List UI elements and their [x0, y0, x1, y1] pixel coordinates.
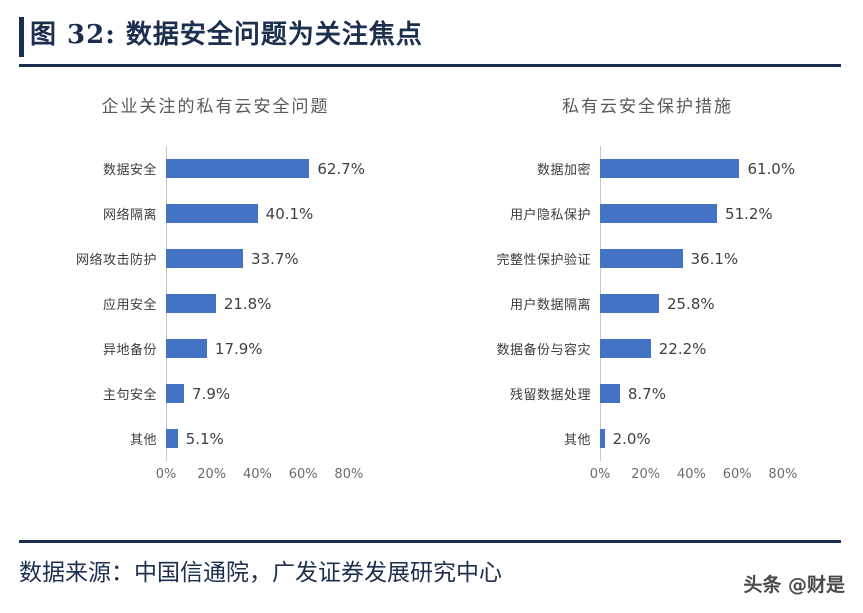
bar — [600, 249, 683, 268]
bar-track: 33.7% — [166, 236, 420, 281]
bar-value-label: 33.7% — [251, 250, 299, 268]
chart-right-title: 私有云安全保护措施 — [432, 92, 863, 117]
bar-category-label: 数据安全 — [103, 159, 166, 178]
x-axis-tick-label: 60% — [723, 467, 752, 482]
bar-track: 2.0% — [600, 416, 854, 461]
bar-value-label: 8.7% — [628, 385, 666, 403]
bar-row: 数据加密61.0% — [464, 146, 854, 191]
bar-row: 网络隔离40.1% — [30, 191, 420, 236]
x-axis-tick-label: 0% — [590, 467, 611, 482]
x-axis-tick-label: 20% — [631, 467, 660, 482]
bar — [600, 204, 717, 223]
bar-value-label: 17.9% — [215, 340, 263, 358]
bar-category-label: 其他 — [130, 429, 166, 448]
bar-value-label: 2.0% — [613, 430, 651, 448]
bar-category-label: 数据加密 — [537, 159, 600, 178]
bar-category-label: 残留数据处理 — [510, 384, 600, 403]
bar-row: 残留数据处理8.7% — [464, 371, 854, 416]
x-axis-tick-label: 80% — [768, 467, 797, 482]
bar — [600, 339, 651, 358]
bar-track: 51.2% — [600, 191, 854, 236]
chart-left-plot: 数据安全62.7%网络隔离40.1%网络攻击防护33.7%应用安全21.8%异地… — [30, 146, 420, 461]
bar-row: 异地备份17.9% — [30, 326, 420, 371]
bar-track: 21.8% — [166, 281, 420, 326]
bar-value-label: 25.8% — [667, 295, 715, 313]
bar-row: 网络攻击防护33.7% — [30, 236, 420, 281]
bar-row: 数据备份与容灾22.2% — [464, 326, 854, 371]
charts-area: 企业关注的私有云安全问题 数据安全62.7%网络隔离40.1%网络攻击防护33.… — [0, 80, 863, 530]
bar-category-label: 主句安全 — [103, 384, 166, 403]
bar-category-label: 数据备份与容灾 — [496, 339, 600, 358]
bar-row: 完整性保护验证36.1% — [464, 236, 854, 281]
bar-value-label: 62.7% — [317, 160, 365, 178]
bar-row: 数据安全62.7% — [30, 146, 420, 191]
chart-left-xaxis: 0%20%40%60%80% — [30, 461, 420, 489]
bar — [600, 294, 659, 313]
bar-value-label: 7.9% — [192, 385, 230, 403]
chart-left-rows: 数据安全62.7%网络隔离40.1%网络攻击防护33.7%应用安全21.8%异地… — [30, 146, 420, 461]
bar-track: 17.9% — [166, 326, 420, 371]
bar-row: 用户数据隔离25.8% — [464, 281, 854, 326]
title-accent-bar — [19, 17, 24, 57]
x-axis-tick-label: 20% — [197, 467, 226, 482]
bar-category-label: 网络隔离 — [103, 204, 166, 223]
bar-category-label: 用户数据隔离 — [510, 294, 600, 313]
bar-track: 62.7% — [166, 146, 420, 191]
bar — [166, 294, 216, 313]
bar-category-label: 用户隐私保护 — [510, 204, 600, 223]
bar-row: 主句安全7.9% — [30, 371, 420, 416]
x-axis-tick-label: 40% — [243, 467, 272, 482]
watermark: 头条 @财是 — [743, 570, 845, 597]
header-divider — [19, 64, 841, 67]
bar-row: 其他5.1% — [30, 416, 420, 461]
x-axis-tick-label: 0% — [156, 467, 177, 482]
bar-track: 22.2% — [600, 326, 854, 371]
bar-category-label: 异地备份 — [103, 339, 166, 358]
bar-category-label: 应用安全 — [103, 294, 166, 313]
chart-right-rows: 数据加密61.0%用户隐私保护51.2%完整性保护验证36.1%用户数据隔离25… — [464, 146, 854, 461]
bar-track: 36.1% — [600, 236, 854, 281]
bar-row: 其他2.0% — [464, 416, 854, 461]
bar-category-label: 网络攻击防护 — [76, 249, 166, 268]
bar-value-label: 51.2% — [725, 205, 773, 223]
source-note: 数据来源：中国信通院，广发证券发展研究中心 — [19, 553, 502, 587]
x-axis-tick-label: 80% — [334, 467, 363, 482]
chart-left-title: 企业关注的私有云安全问题 — [0, 92, 431, 117]
footer-divider — [19, 540, 841, 543]
bar-category-label: 其他 — [564, 429, 600, 448]
bar-category-label: 完整性保护验证 — [496, 249, 600, 268]
bar-track: 8.7% — [600, 371, 854, 416]
bar-value-label: 61.0% — [747, 160, 795, 178]
bar-row: 用户隐私保护51.2% — [464, 191, 854, 236]
bar-track: 61.0% — [600, 146, 854, 191]
bar — [166, 249, 243, 268]
page-title: 图 32: 数据安全问题为关注焦点 — [30, 14, 423, 51]
bar-track: 40.1% — [166, 191, 420, 236]
bar-value-label: 5.1% — [186, 430, 224, 448]
bar — [600, 429, 605, 448]
bar-value-label: 21.8% — [224, 295, 272, 313]
bar — [166, 429, 178, 448]
bar-track: 7.9% — [166, 371, 420, 416]
bar — [600, 159, 739, 178]
chart-left: 企业关注的私有云安全问题 数据安全62.7%网络隔离40.1%网络攻击防护33.… — [0, 80, 431, 530]
bar-value-label: 22.2% — [659, 340, 707, 358]
chart-right-plot: 数据加密61.0%用户隐私保护51.2%完整性保护验证36.1%用户数据隔离25… — [464, 146, 854, 461]
bar — [166, 339, 207, 358]
x-axis-tick-label: 60% — [289, 467, 318, 482]
bar — [166, 384, 184, 403]
bar — [600, 384, 620, 403]
figure-title-row: 图 32: 数据安全问题为关注焦点 — [0, 14, 863, 62]
bar-value-label: 40.1% — [266, 205, 314, 223]
x-axis-tick-label: 40% — [677, 467, 706, 482]
bar — [166, 204, 258, 223]
chart-right-xaxis: 0%20%40%60%80% — [464, 461, 854, 489]
bar-row: 应用安全21.8% — [30, 281, 420, 326]
chart-right: 私有云安全保护措施 数据加密61.0%用户隐私保护51.2%完整性保护验证36.… — [432, 80, 863, 530]
bar — [166, 159, 309, 178]
bar-track: 25.8% — [600, 281, 854, 326]
bar-track: 5.1% — [166, 416, 420, 461]
bar-value-label: 36.1% — [691, 250, 739, 268]
